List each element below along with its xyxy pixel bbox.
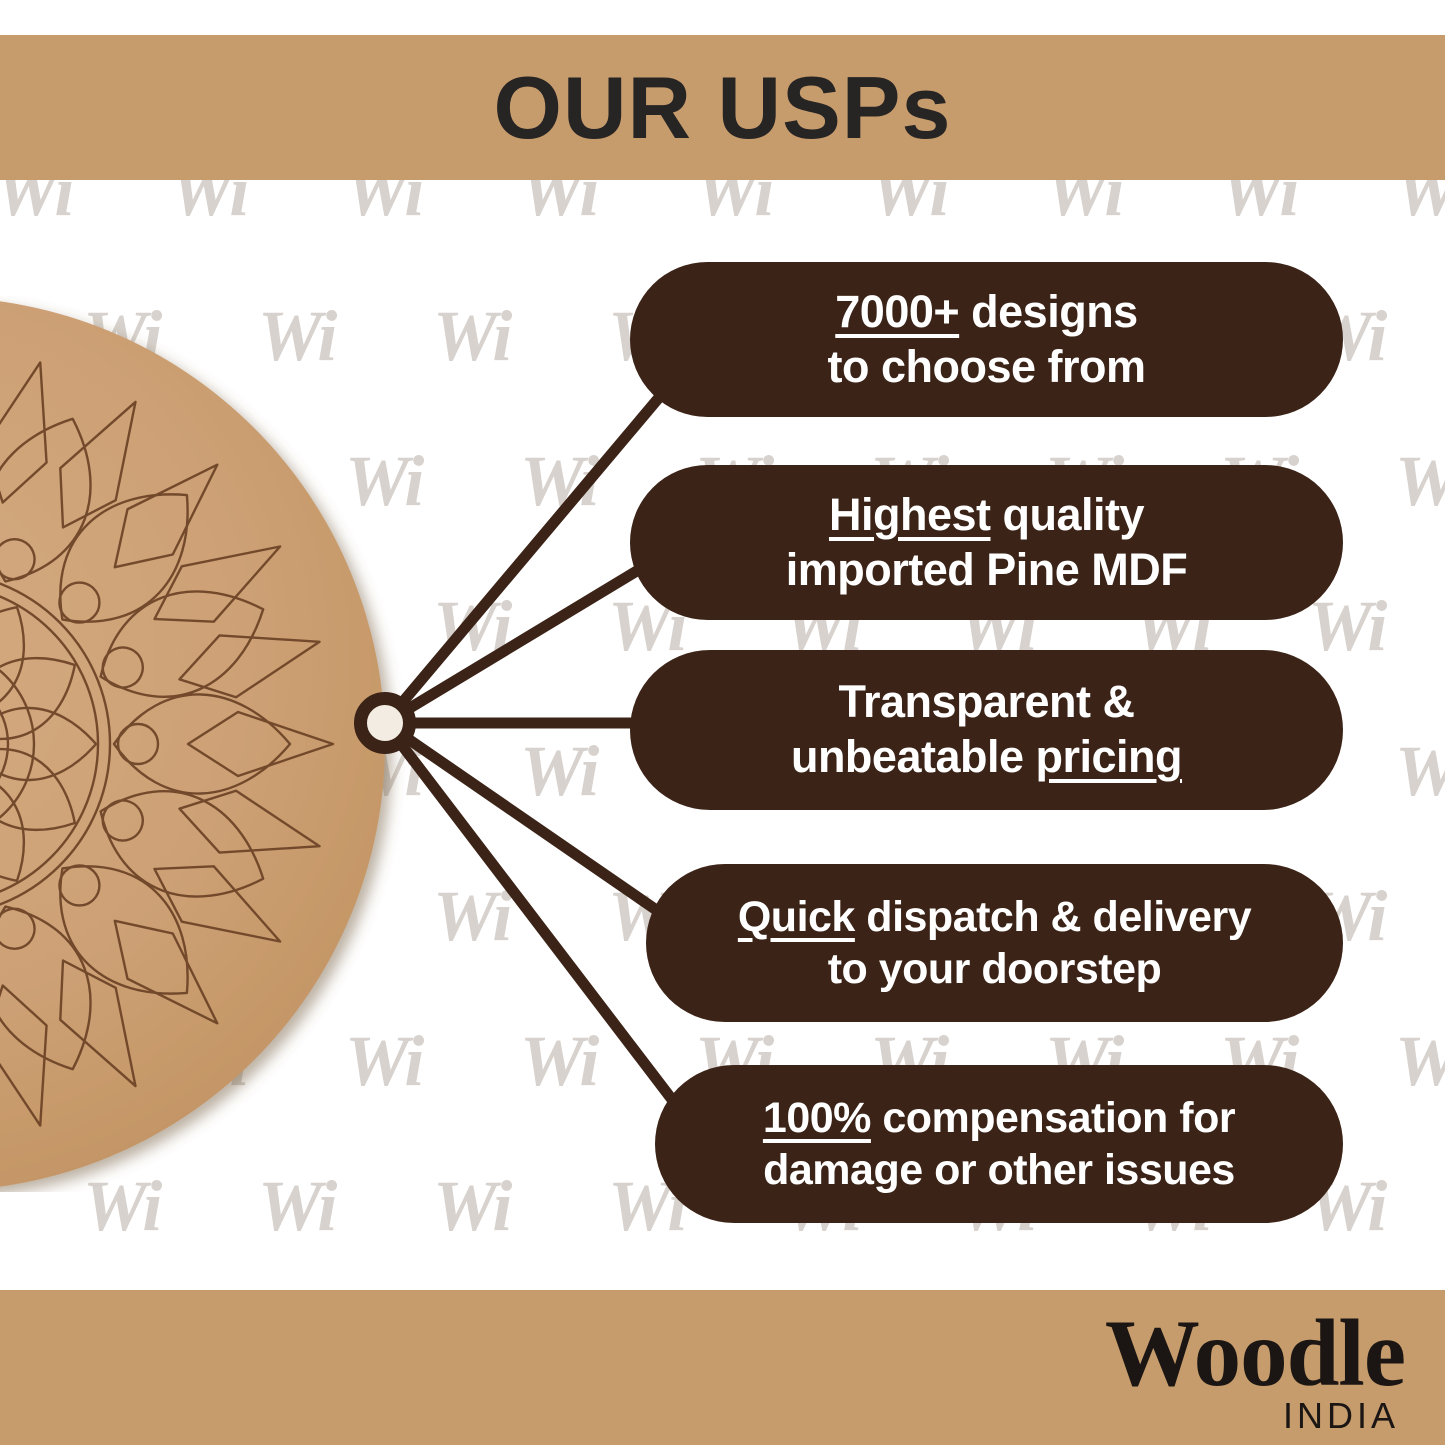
footer-band: Woodle INDIA xyxy=(0,1290,1445,1445)
usp-underline-3: Quick xyxy=(738,893,855,941)
brand-logo: Woodle INDIA xyxy=(1105,1304,1405,1434)
usp-post-0: designs xyxy=(959,286,1138,337)
brand-name: Woodle xyxy=(1105,1304,1405,1404)
usp-underline-2: pricing xyxy=(1036,731,1183,782)
usp-pre-2: Transparent & xyxy=(838,676,1134,727)
diagram-hub-node xyxy=(354,692,416,754)
usp-underline-4: 100% xyxy=(763,1094,871,1142)
infographic-canvas: WiWiWiWiWiWiWiWiWiWiWiWiWiWiWiWiWiWiWiWi… xyxy=(0,0,1445,1445)
usp-pill-quality[interactable]: Highest qualityimported Pine MDF xyxy=(630,465,1343,620)
usp-line2-0: to choose from xyxy=(827,341,1145,392)
usp-text-quality: Highest qualityimported Pine MDF xyxy=(786,488,1188,598)
usp-underline-0: 7000+ xyxy=(835,286,959,337)
usp-text-designs: 7000+ designsto choose from xyxy=(827,285,1145,395)
usp-pill-dispatch[interactable]: Quick dispatch & deliveryto your doorste… xyxy=(646,864,1343,1022)
usp-line2-3: to your doorstep xyxy=(828,945,1162,993)
usp-post-3: dispatch & delivery xyxy=(855,893,1251,941)
header-band: OUR USPs xyxy=(0,35,1445,180)
usp-line2pre-2: unbeatable xyxy=(791,731,1036,782)
usp-text-pricing: Transparent &unbeatable pricing xyxy=(791,675,1182,785)
usp-post-4: compensation for xyxy=(871,1094,1235,1142)
usp-pill-pricing[interactable]: Transparent &unbeatable pricing xyxy=(630,650,1343,810)
usp-pill-compensation[interactable]: 100% compensation fordamage or other iss… xyxy=(655,1065,1343,1223)
usp-line2-4: damage or other issues xyxy=(763,1146,1235,1194)
page-title: OUR USPs xyxy=(494,64,952,152)
usp-post-1: quality xyxy=(990,489,1144,540)
usp-pill-list: 7000+ designsto choose from Highest qual… xyxy=(0,0,1445,1445)
usp-line2-1: imported Pine MDF xyxy=(786,544,1188,595)
usp-underline-1: Highest xyxy=(829,489,991,540)
usp-text-compensation: 100% compensation fordamage or other iss… xyxy=(763,1092,1235,1197)
usp-pill-designs[interactable]: 7000+ designsto choose from xyxy=(630,262,1343,417)
usp-text-dispatch: Quick dispatch & deliveryto your doorste… xyxy=(738,891,1251,996)
